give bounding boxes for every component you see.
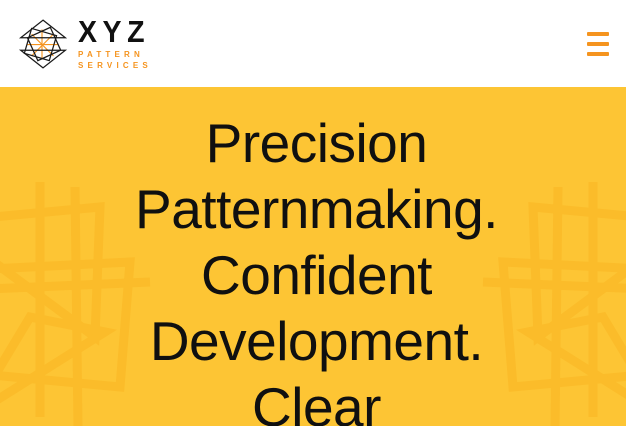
hero-content: Precision Patternmaking. Confident Devel…: [0, 87, 633, 426]
brand-tagline-line-1: PATTERN: [78, 50, 156, 61]
scrollbar-gutter[interactable]: [626, 0, 633, 426]
site-header: XYZ PATTERN SERVICES: [0, 0, 633, 87]
brand-name: XYZ: [78, 17, 150, 46]
brand-text: XYZ PATTERN SERVICES: [78, 15, 156, 71]
brand-tagline: PATTERN SERVICES: [78, 50, 156, 72]
xyz-geometric-star-logo-icon: [16, 17, 68, 71]
page-root: XYZ PATTERN SERVICES: [0, 0, 633, 426]
hamburger-bar-bottom: [587, 52, 609, 56]
brand-logo-link[interactable]: XYZ PATTERN SERVICES: [16, 15, 156, 71]
hamburger-bar-top: [587, 32, 609, 36]
brand-tagline-line-2: SERVICES: [78, 61, 156, 72]
hero-heading: Precision Patternmaking. Confident Devel…: [92, 110, 542, 426]
hero-section: Precision Patternmaking. Confident Devel…: [0, 87, 633, 426]
hamburger-bar-middle: [587, 42, 609, 46]
hamburger-menu-icon[interactable]: [581, 32, 609, 56]
